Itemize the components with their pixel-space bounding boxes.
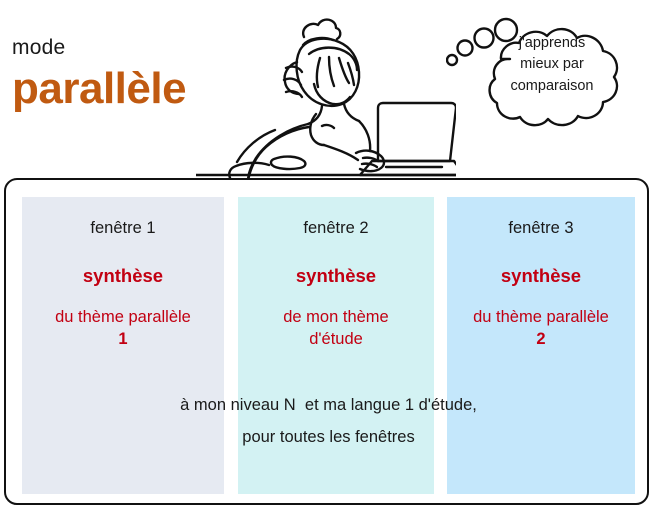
window-column-1: fenêtre 1 synthèse du thème parallèle 1 (22, 197, 224, 494)
mode-label: mode (12, 36, 65, 60)
header: mode parallèle (0, 0, 657, 178)
synthese-label-2: synthèse (238, 265, 434, 287)
synthese-label-1: synthèse (22, 265, 224, 287)
window-label-1: fenêtre 1 (22, 219, 224, 239)
thought-bubble-text: j'apprends mieux par comparaison (462, 33, 642, 97)
synthese-label-3: synthèse (447, 265, 635, 287)
main-panel: fenêtre 1 synthèse du thème parallèle 1 … (4, 178, 649, 505)
person-at-laptop-icon (196, 2, 456, 178)
column-description-2-line-2: d'étude (238, 329, 434, 351)
column-description-3: du thème parallèle 2 (447, 307, 635, 351)
window-label-3: fenêtre 3 (447, 219, 635, 239)
thought-bubble-line-1: j'apprends (462, 33, 642, 54)
thought-bubble-line-2: mieux par (462, 54, 642, 75)
window-label-2: fenêtre 2 (238, 219, 434, 239)
column-description-3-line-1: du thème parallèle (447, 307, 635, 329)
column-description-1: du thème parallèle 1 (22, 307, 224, 351)
window-column-2: fenêtre 2 synthèse de mon thème d'étude (238, 197, 434, 494)
column-description-1-line-1: du thème parallèle (22, 307, 224, 329)
thought-bubble-line-3: comparaison (462, 76, 642, 97)
column-description-2-line-1: de mon thème (238, 307, 434, 329)
column-description-3-line-2: 2 (447, 329, 635, 351)
window-column-3: fenêtre 3 synthèse du thème parallèle 2 (447, 197, 635, 494)
mode-title: parallèle (12, 67, 186, 111)
column-description-1-line-2: 1 (22, 329, 224, 351)
column-description-2: de mon thème d'étude (238, 307, 434, 351)
